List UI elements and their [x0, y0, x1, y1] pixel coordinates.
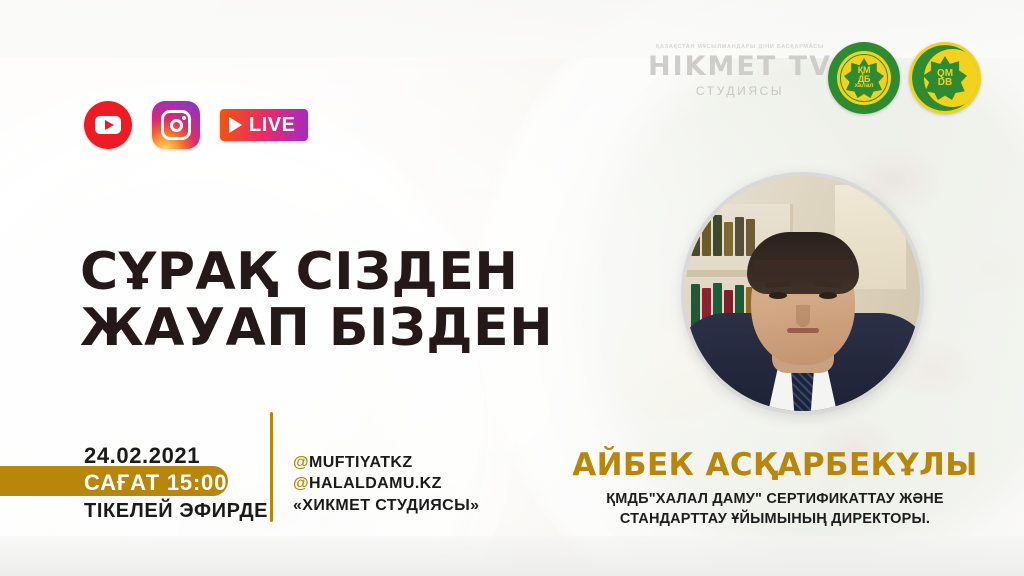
- youtube-icon[interactable]: [84, 101, 132, 149]
- broadcast-time: САҒАТ 15:00: [84, 470, 227, 496]
- live-badge[interactable]: LIVE: [220, 109, 308, 141]
- broadcast-promo-poster: LIVE ҚАЗАҚСТАН МҰСЫЛМАНДАРЫ ДІНИ БАСҚАРМ…: [0, 0, 1024, 576]
- handle-1-label: MUFTIYATKZ: [309, 454, 413, 471]
- kmdb-halal-logo: ҚМ ДБ халал: [828, 42, 900, 114]
- instagram-dot: [182, 116, 186, 120]
- at-symbol-icon: @: [293, 454, 309, 471]
- portrait-books-top: [691, 214, 755, 256]
- speaker-name: АЙБЕК АСҚАРБЕКҰЛЫ: [540, 450, 1010, 481]
- portrait-mouth: [787, 328, 819, 333]
- qmdb-logo-line2: DB: [938, 78, 952, 88]
- bottom-band: [0, 536, 1024, 576]
- headline: СҰРАҚ СІЗДЕН ЖАУАП БІЗДЕН: [80, 244, 553, 356]
- speaker-portrait: [681, 172, 924, 415]
- brand-tagline: ҚАЗАҚСТАН МҰСЫЛМАНДАРЫ ДІНИ БАСҚАРМАСЫ: [640, 44, 840, 50]
- handle-muftiyatkz[interactable]: @MUFTIYATKZ: [293, 452, 479, 473]
- youtube-play-triangle: [105, 120, 114, 130]
- live-play-triangle: [229, 117, 242, 133]
- qmdb-logo: QM DB: [909, 42, 981, 114]
- headline-line-2: ЖАУАП БІЗДЕН: [80, 300, 553, 356]
- headline-line-1: СҰРАҚ СІЗДЕН: [80, 244, 553, 300]
- instagram-icon[interactable]: [152, 101, 200, 149]
- brand-subtitle: СТУДИЯСЫ: [640, 84, 840, 98]
- portrait-nose: [796, 305, 810, 327]
- instagram-icon-frame: [161, 110, 191, 140]
- social-handles: @MUFTIYATKZ @HALALDAMU.KZ «ХИКМЕТ СТУДИЯ…: [293, 452, 479, 516]
- instagram-lens: [170, 119, 183, 132]
- handle-2-label: HALALDAMU.KZ: [309, 475, 442, 492]
- speaker-title-line-2: СТАНДАРТТАУ ҰЙЫМЫНЫҢ ДИРЕКТОРЫ.: [540, 510, 1010, 530]
- portrait-hair: [747, 232, 859, 294]
- youtube-icon-body: [95, 116, 121, 134]
- kmdb-logo-line3: халал: [854, 83, 873, 90]
- live-badge-label: LIVE: [249, 114, 295, 137]
- speaker-title-line-1: ҚМДБ"ХАЛАЛ ДАМУ" СЕРТИФИКАТТАУ ЖӘНЕ: [540, 490, 1010, 510]
- at-symbol-icon: @: [293, 475, 309, 492]
- speaker-title: ҚМДБ"ХАЛАЛ ДАМУ" СЕРТИФИКАТТАУ ЖӘНЕ СТАН…: [540, 490, 1010, 529]
- channel-brand: ҚАЗАҚСТАН МҰСЫЛМАНДАРЫ ДІНИ БАСҚАРМАСЫ H…: [640, 44, 840, 98]
- kmdb-inner-ring: ҚМ ДБ халал: [837, 51, 891, 105]
- live-text: ТІКЕЛЕЙ ЭФИРДЕ: [84, 500, 268, 523]
- vertical-divider: [270, 412, 273, 522]
- brand-title: HIKMET TV: [640, 53, 840, 80]
- broadcast-date: 24.02.2021: [84, 443, 200, 469]
- organization-logos: ҚМ ДБ халал QM DB: [828, 42, 981, 114]
- handle-halaldamu[interactable]: @HALALDAMU.KZ: [293, 473, 479, 494]
- social-icon-row: LIVE: [84, 101, 308, 149]
- studio-name: «ХИКМЕТ СТУДИЯСЫ»: [293, 495, 479, 516]
